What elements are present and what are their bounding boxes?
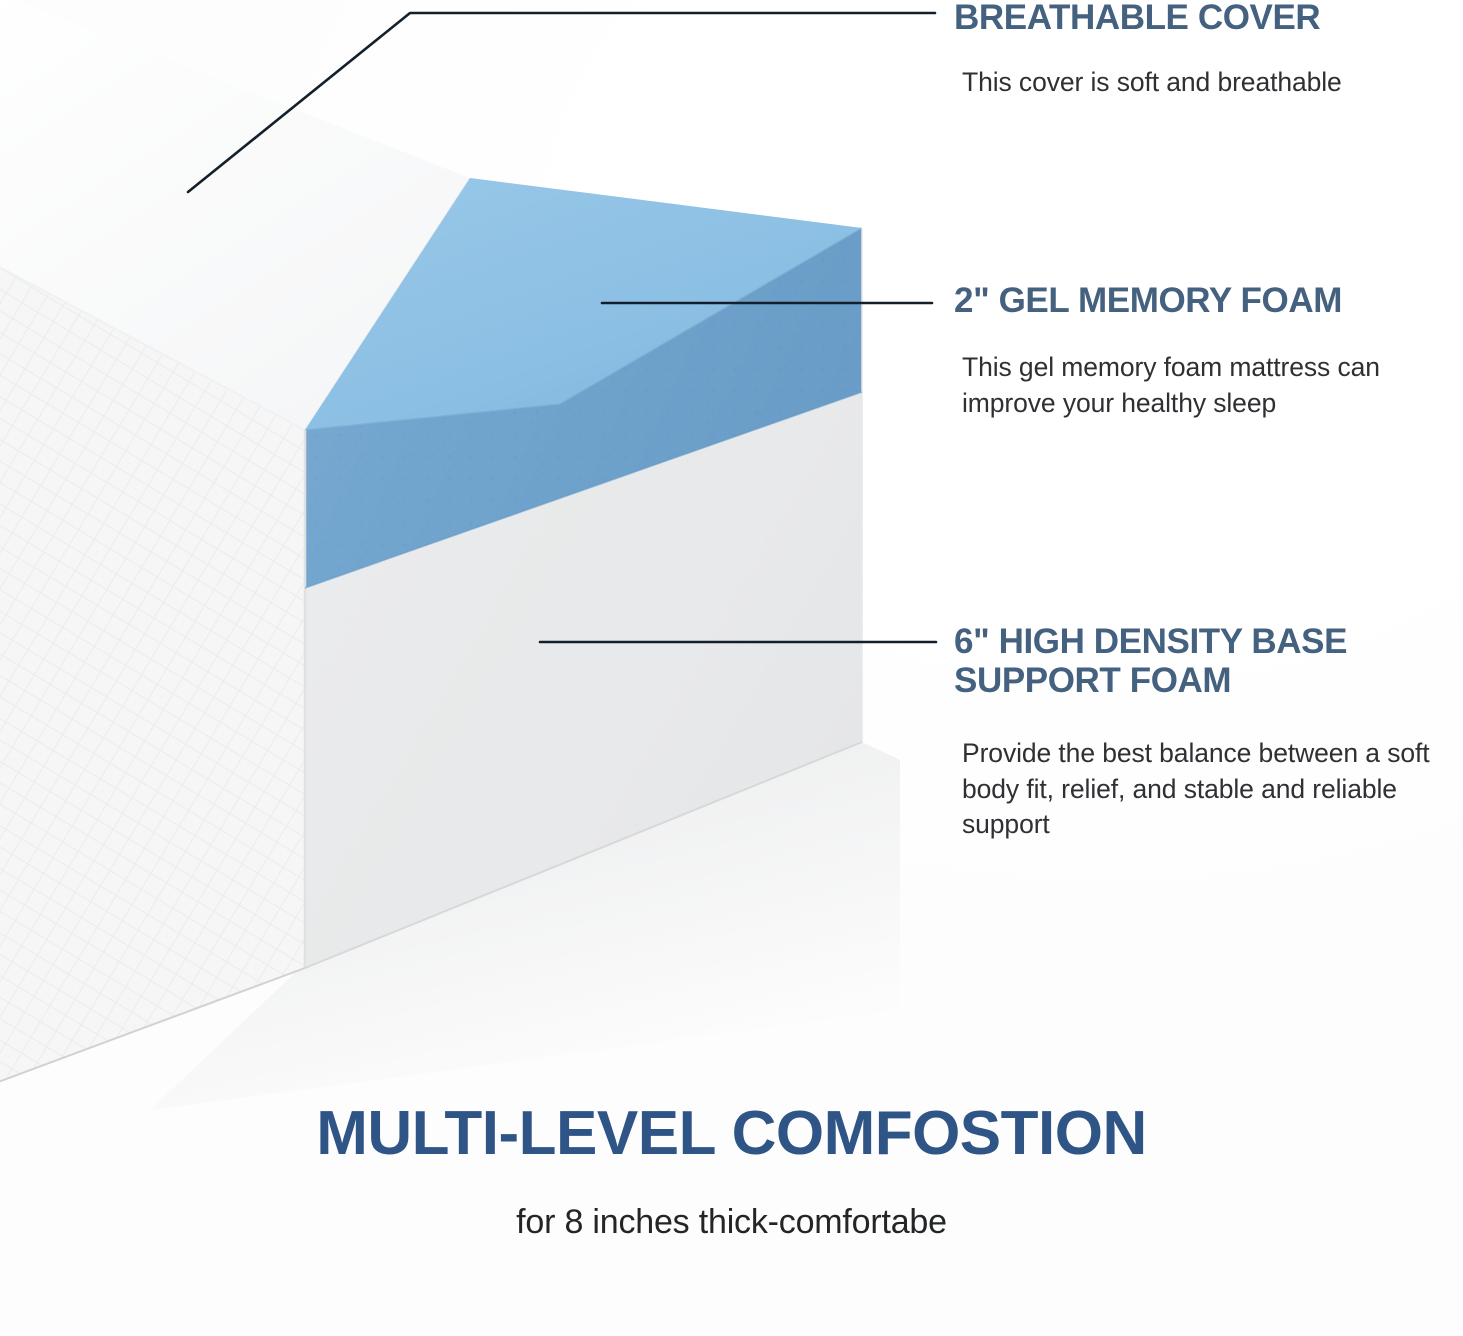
mattress-cutaway-illustration xyxy=(0,0,900,1110)
annotation-body-base-support-foam: Provide the best balance between a soft … xyxy=(962,736,1460,843)
footer-subheadline: for 8 inches thick-comfortabe xyxy=(0,1203,1463,1242)
infographic-canvas: BREATHABLE COVER This cover is soft and … xyxy=(0,0,1463,1336)
annotation-gel-memory-foam: 2" GEL MEMORY FOAM This gel memory foam … xyxy=(940,281,1460,421)
footer-headline-block: MULTI-LEVEL COMFOSTION for 8 inches thic… xyxy=(0,1098,1463,1242)
annotation-title-gel-memory-foam: 2" GEL MEMORY FOAM xyxy=(954,281,1460,320)
annotation-breathable-cover: BREATHABLE COVER This cover is soft and … xyxy=(940,0,1460,101)
footer-headline: MULTI-LEVEL COMFOSTION xyxy=(0,1098,1463,1169)
annotation-title-breathable-cover: BREATHABLE COVER xyxy=(954,0,1460,37)
annotation-base-support-foam: 6" HIGH DENSITY BASE SUPPORT FOAM Provid… xyxy=(940,622,1460,843)
annotation-body-breathable-cover: This cover is soft and breathable xyxy=(962,65,1460,101)
annotation-title-base-support-foam: 6" HIGH DENSITY BASE SUPPORT FOAM xyxy=(954,622,1460,700)
annotation-body-gel-memory-foam: This gel memory foam mattress can improv… xyxy=(962,350,1460,421)
